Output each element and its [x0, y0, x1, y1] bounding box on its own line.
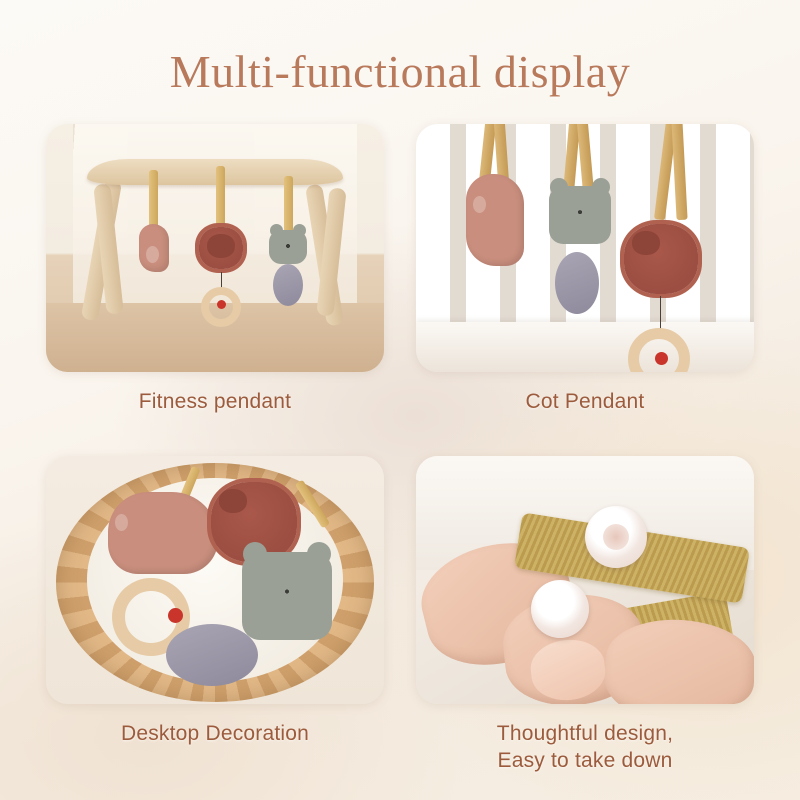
feature-grid: Fitness pendant [0, 0, 800, 800]
gym-arch-bar [87, 159, 344, 185]
snap-fastener-icon [585, 506, 647, 568]
tile-caption: Thoughtful design, Easy to take down [416, 720, 754, 774]
toy-lion [624, 224, 698, 294]
snap-fastener-icon [531, 580, 589, 638]
bear-ear-icon [270, 224, 283, 237]
crib-rail [416, 322, 754, 372]
toy-red-bead [217, 300, 226, 309]
photo-basket [46, 456, 384, 704]
toy-red-bead [168, 608, 183, 623]
tile-cot-pendant[interactable]: Cot Pendant [416, 124, 754, 415]
bear-ear-icon [293, 224, 306, 237]
bear-ear-icon [592, 178, 610, 196]
toy-lion [199, 227, 243, 269]
caption-line-2: Easy to take down [416, 747, 754, 774]
bear-face-icon [567, 208, 593, 222]
toy-body-drop [555, 252, 599, 314]
strap-crocodile [149, 170, 158, 228]
toy-crocodile [108, 492, 218, 574]
toy-crocodile [139, 224, 169, 272]
bear-ear-icon [550, 178, 568, 196]
toy-red-bead [655, 352, 668, 365]
tile-caption: Desktop Decoration [46, 720, 384, 747]
toy-bear [242, 552, 332, 640]
toy-body-drop [273, 264, 303, 306]
toy-body-drop [166, 624, 258, 686]
strap-lion [216, 166, 225, 228]
toy-crocodile [466, 174, 524, 266]
tile-desktop-decoration[interactable]: Desktop Decoration [46, 456, 384, 747]
tile-caption: Cot Pendant [416, 388, 754, 415]
bear-face-icon [270, 586, 304, 604]
toy-bear [549, 186, 611, 244]
toy-bear [269, 230, 307, 264]
photo-play-gym [46, 124, 384, 372]
tile-thoughtful-design[interactable]: Thoughtful design, Easy to take down [416, 456, 754, 774]
bear-face-icon [279, 243, 297, 253]
photo-snap-fastener [416, 456, 754, 704]
strap-bear [284, 176, 293, 234]
tile-caption: Fitness pendant [46, 388, 384, 415]
tile-fitness-pendant[interactable]: Fitness pendant [46, 124, 384, 415]
product-display-page: Multi-functional display [0, 0, 800, 800]
caption-line-1: Thoughtful design, [416, 720, 754, 747]
bear-ear-icon [243, 542, 267, 566]
bear-ear-icon [307, 542, 331, 566]
photo-cot [416, 124, 754, 372]
